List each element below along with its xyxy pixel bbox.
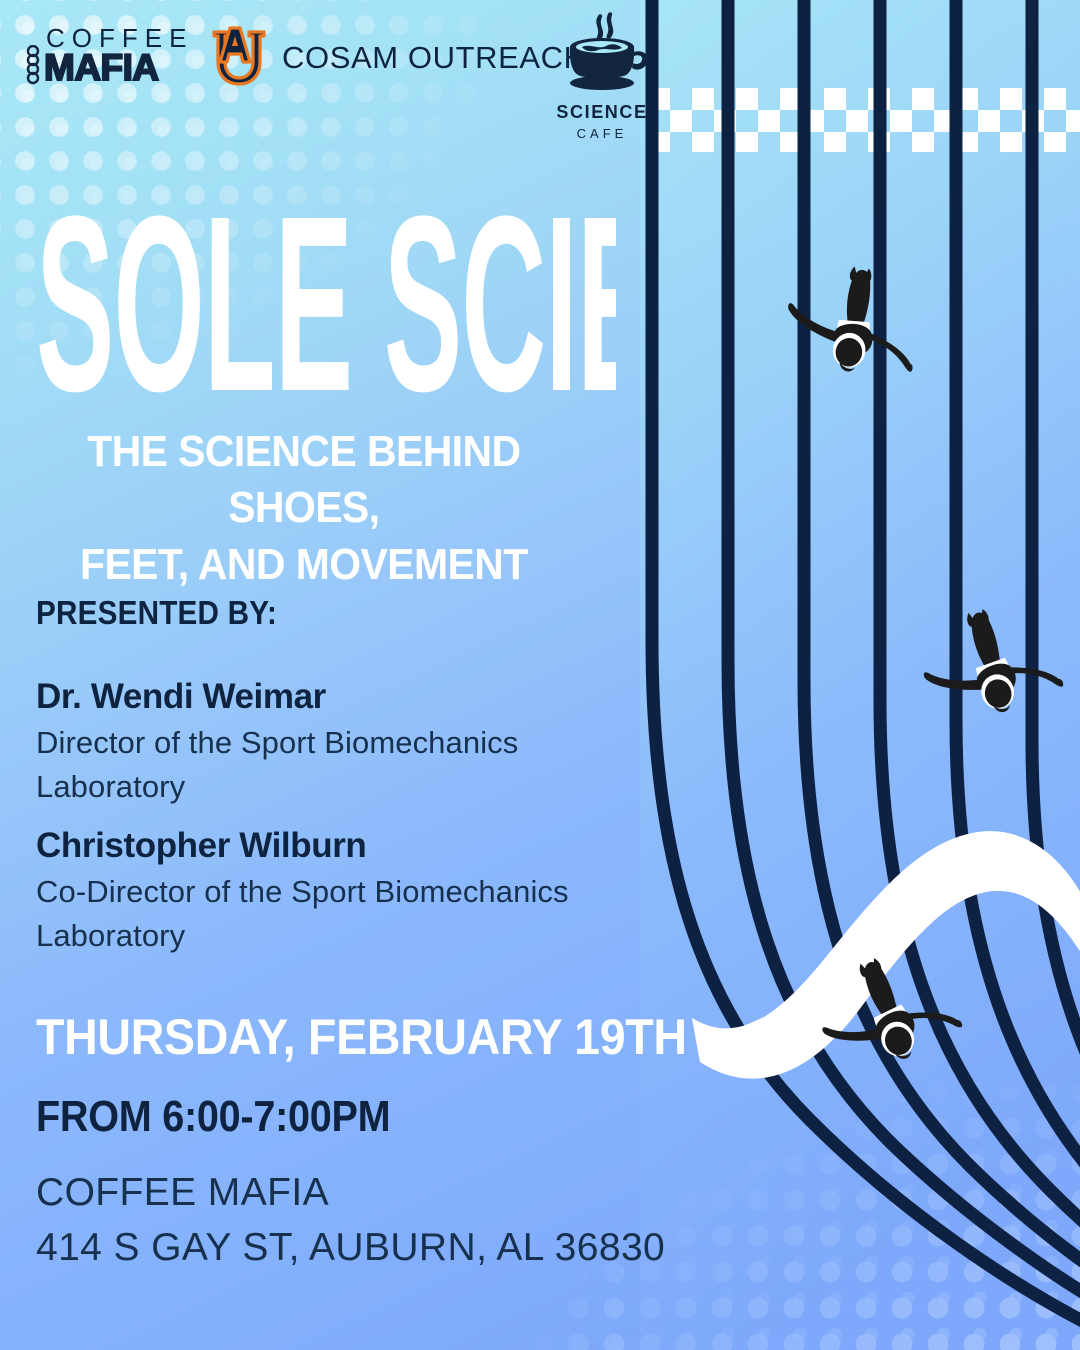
presenter-item: Dr. Wendi Weimar Director of the Sport B… <box>36 674 656 809</box>
auburn-au-logo <box>208 24 270 86</box>
presenter-item: Christopher Wilburn Co-Director of the S… <box>36 823 656 958</box>
event-poster: COFFEE MAFIA COSAM OUTREACH <box>0 0 1080 1350</box>
event-time: FROM 6:00-7:00PM <box>36 1092 390 1142</box>
presenter-name: Dr. Wendi Weimar <box>36 674 656 721</box>
venue-address: 414 S GAY ST, AUBURN, AL 36830 <box>36 1220 665 1275</box>
presenter-list: Dr. Wendi Weimar Director of the Sport B… <box>36 660 656 958</box>
page-title-text: SOLE SCIENCE <box>36 165 616 408</box>
page-subtitle: THE SCIENCE BEHIND SHOES, FEET, AND MOVE… <box>36 424 572 593</box>
brass-knuckles-icon <box>24 45 48 87</box>
presented-by-label: PRESENTED BY: <box>36 594 277 632</box>
page-subtitle-line1: THE SCIENCE BEHIND SHOES, <box>36 424 572 537</box>
coffee-mafia-logo: COFFEE MAFIA <box>24 25 176 87</box>
page-subtitle-line2: FEET, AND MOVEMENT <box>36 537 572 593</box>
coffee-cup-icon <box>548 12 656 96</box>
venue-name: COFFEE MAFIA <box>36 1165 665 1220</box>
science-cafe-line1: SCIENCE <box>548 102 656 123</box>
presenter-role-line: Co-Director of the Sport Biomechanics <box>36 870 656 914</box>
presenter-role-line: Laboratory <box>36 765 656 809</box>
cosam-outreach-label: COSAM OUTREACH <box>282 40 587 76</box>
presenter-name: Christopher Wilburn <box>36 823 656 870</box>
event-time-text: FROM 6:00-7:00PM <box>36 1092 390 1141</box>
event-venue: COFFEE MAFIA 414 S GAY ST, AUBURN, AL 36… <box>36 1165 665 1276</box>
coffee-mafia-line2: MAFIA <box>44 51 176 85</box>
science-cafe-logo: SCIENCE CAFE <box>548 12 656 136</box>
science-cafe-line2: CAFE <box>548 126 656 141</box>
event-date-text: THURSDAY, FEBRUARY 19TH <box>36 1009 687 1065</box>
page-title: SOLE SCIENCE <box>36 158 616 408</box>
sponsor-logo-row: COFFEE MAFIA COSAM OUTREACH <box>0 0 660 150</box>
event-date: THURSDAY, FEBRUARY 19TH <box>36 1008 687 1066</box>
presenter-role-line: Director of the Sport Biomechanics <box>36 721 656 765</box>
presenter-role-line: Laboratory <box>36 914 656 958</box>
